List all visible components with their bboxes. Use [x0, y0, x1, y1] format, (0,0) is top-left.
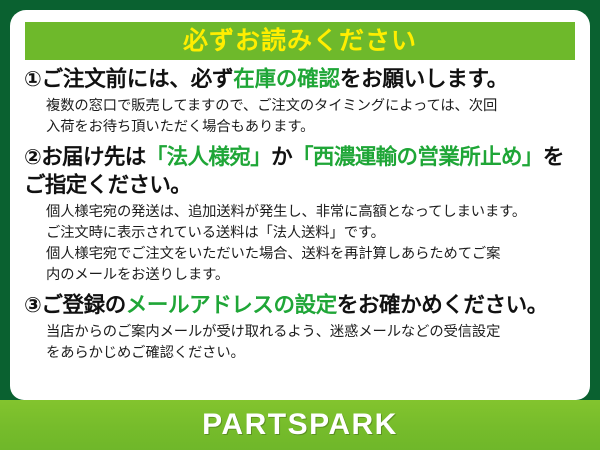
notice-number: ②	[24, 146, 41, 169]
notice-heading-text-b: をお確かめください。	[337, 293, 548, 317]
notice-heading-text-b: をお願いします。	[340, 67, 508, 91]
notice-item: ②お届け先は「法人様宛」か「西濃運輸の営業所止め」をご指定ください。 個人様宅宛…	[24, 144, 576, 286]
notice-subtext-line: ご注文時に表示されている送料は「法人送料」です。	[46, 223, 576, 244]
content-panel: 必ずお読みください ①ご注文前には、必ず在庫の確認をお願いします。 複数の窓口で…	[10, 10, 590, 400]
notice-heading: ①ご注文前には、必ず在庫の確認をお願いします。	[24, 66, 576, 94]
notice-subtext: 当店からのご案内メールが受け取れるよう、迷惑メールなどの受信設定 をあらかじめご…	[24, 322, 576, 364]
brand-name: PARTSPARK	[202, 410, 398, 440]
notice-subtext-line: 内のメールをお送りします。	[46, 265, 576, 286]
notice-subtext-line: 個人様宅宛の発送は、追加送料が発生し、非常に高額となってしまいます。	[46, 202, 576, 223]
notice-item: ①ご注文前には、必ず在庫の確認をお願いします。 複数の窓口で販売してますので、ご…	[24, 66, 576, 138]
notice-heading-highlight-2: 「西濃運輸の営業所止め」	[292, 145, 543, 169]
notice-heading-text-mid: か	[271, 145, 292, 169]
notice-number: ③	[24, 294, 41, 317]
notice-heading-highlight: 「法人様宛」	[146, 145, 271, 169]
notice-subtext-line: 入荷をお待ち頂いただく場合もあります。	[46, 117, 576, 138]
notice-heading: ②お届け先は「法人様宛」か「西濃運輸の営業所止め」をご指定ください。	[24, 144, 576, 199]
brand-footer: PARTSPARK	[0, 400, 600, 450]
notice-heading-highlight: メールアドレスの設定	[126, 293, 337, 317]
notice-heading-highlight: 在庫の確認	[233, 67, 340, 91]
header-title-bar: 必ずお読みください	[25, 22, 575, 60]
notice-list: ①ご注文前には、必ず在庫の確認をお願いします。 複数の窓口で販売してますので、ご…	[10, 66, 590, 370]
notice-subtext-line: 複数の窓口で販売してますので、ご注文のタイミングによっては、次回	[46, 96, 576, 117]
notice-subtext-line: をあらかじめご確認ください。	[46, 343, 576, 364]
notice-subtext-line: 個人様宅宛でご注文をいただいた場合、送料を再計算しあらためてご案	[46, 244, 576, 265]
notice-heading-text-a: ご注文前には、必ず	[42, 67, 234, 91]
notice-banner: 必ずお読みください ①ご注文前には、必ず在庫の確認をお願いします。 複数の窓口で…	[0, 0, 600, 450]
notice-heading-text-a: ご登録の	[41, 293, 125, 317]
notice-subtext: 個人様宅宛の発送は、追加送料が発生し、非常に高額となってしまいます。 ご注文時に…	[24, 202, 576, 287]
notice-heading-text-a: お届け先は	[41, 145, 146, 169]
notice-heading: ③ご登録のメールアドレスの設定をお確かめください。	[24, 292, 576, 320]
notice-number: ①	[24, 68, 42, 91]
notice-subtext: 複数の窓口で販売してますので、ご注文のタイミングによっては、次回 入荷をお待ち頂…	[24, 96, 576, 138]
page-title: 必ずお読みください	[183, 29, 417, 54]
notice-subtext-line: 当店からのご案内メールが受け取れるよう、迷惑メールなどの受信設定	[46, 322, 576, 343]
notice-item: ③ご登録のメールアドレスの設定をお確かめください。 当店からのご案内メールが受け…	[24, 292, 576, 364]
